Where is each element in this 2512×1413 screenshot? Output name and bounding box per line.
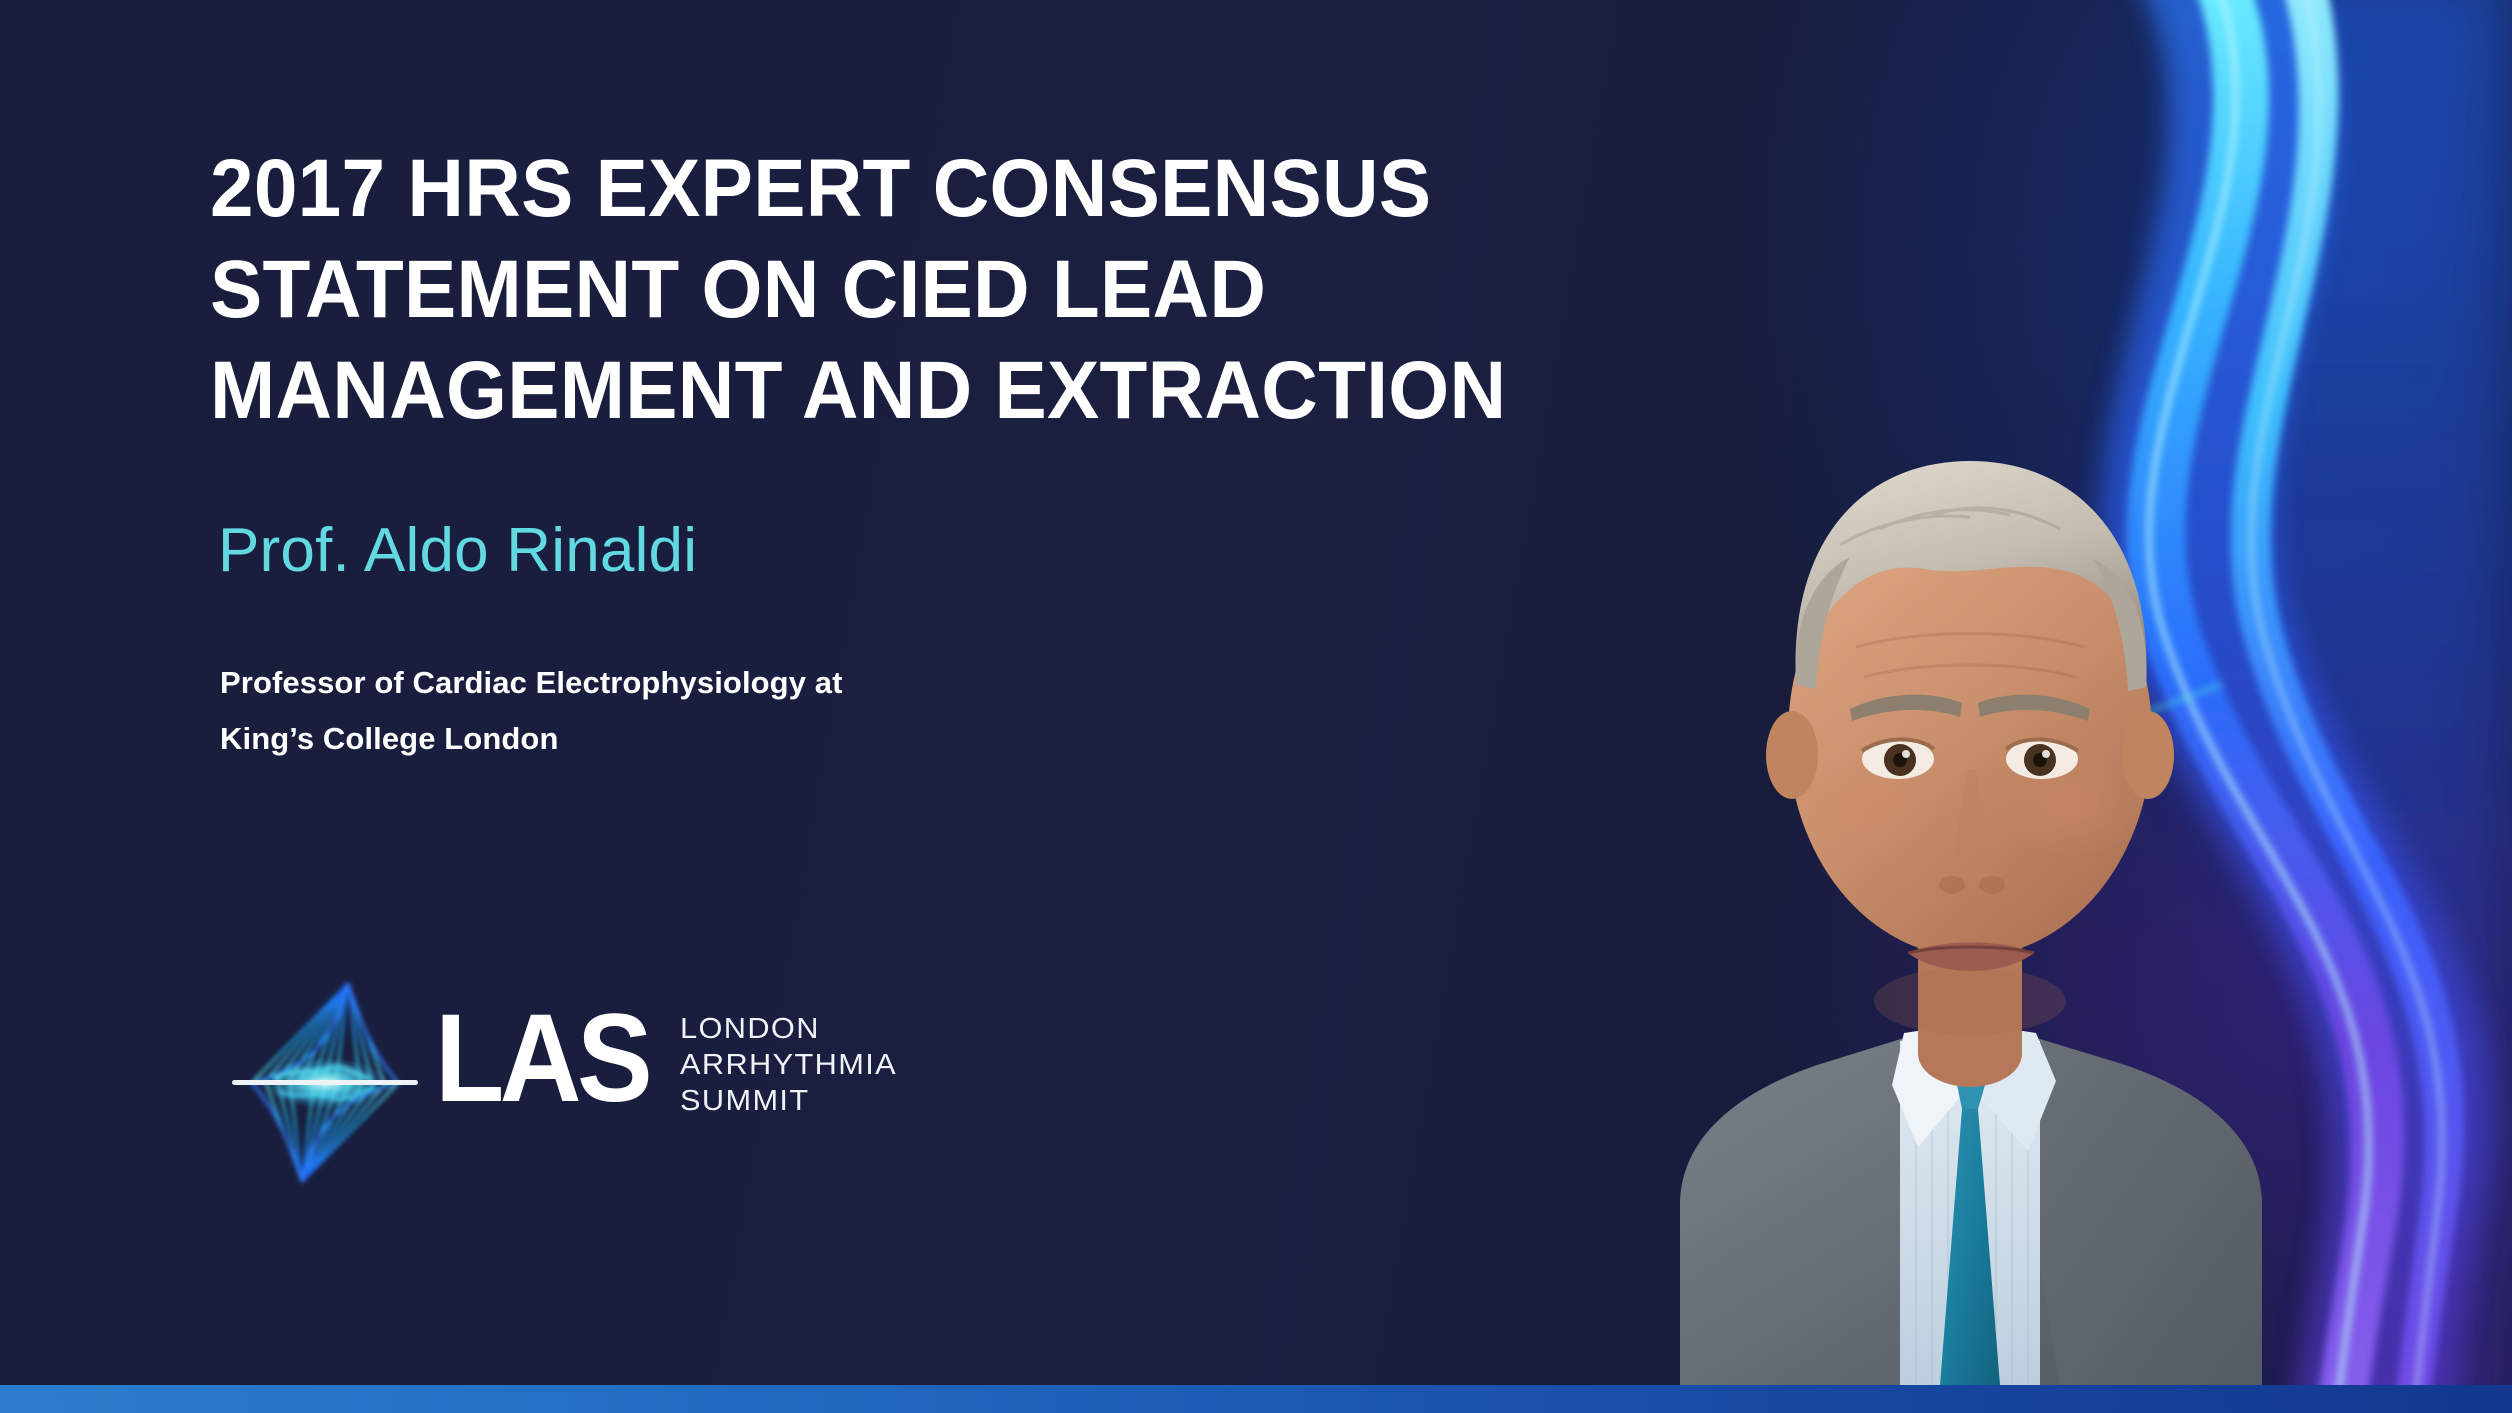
las-fullname-line-2: ARRHYTHMIA [680,1047,897,1083]
las-acronym: LAS [435,997,648,1119]
presentation-slide: 2017 HRS EXPERT CONSENSUS STATEMENT ON C… [0,0,2512,1413]
las-fullname: LONDON ARRHYTHMIA SUMMIT [680,1011,897,1119]
las-logo: LAS LONDON ARRHYTHMIA SUMMIT [230,975,990,1195]
las-wordmark: LAS LONDON ARRHYTHMIA SUMMIT [435,997,885,1119]
page-title: 2017 HRS EXPERT CONSENSUS STATEMENT ON C… [210,138,1671,441]
speaker-credentials: Professor of Cardiac Electrophysiology a… [220,655,843,767]
las-diamond-waveform-icon [230,975,420,1190]
credentials-line-2: King’s College London [220,711,843,767]
credentials-line-1: Professor of Cardiac Electrophysiology a… [220,655,843,711]
slide-content: 2017 HRS EXPERT CONSENSUS STATEMENT ON C… [210,0,1770,1413]
bottom-accent-bar [0,1385,2512,1413]
las-fullname-line-1: LONDON [680,1011,897,1047]
las-fullname-line-3: SUMMIT [680,1083,897,1119]
speaker-name: Prof. Aldo Rinaldi [218,515,697,586]
